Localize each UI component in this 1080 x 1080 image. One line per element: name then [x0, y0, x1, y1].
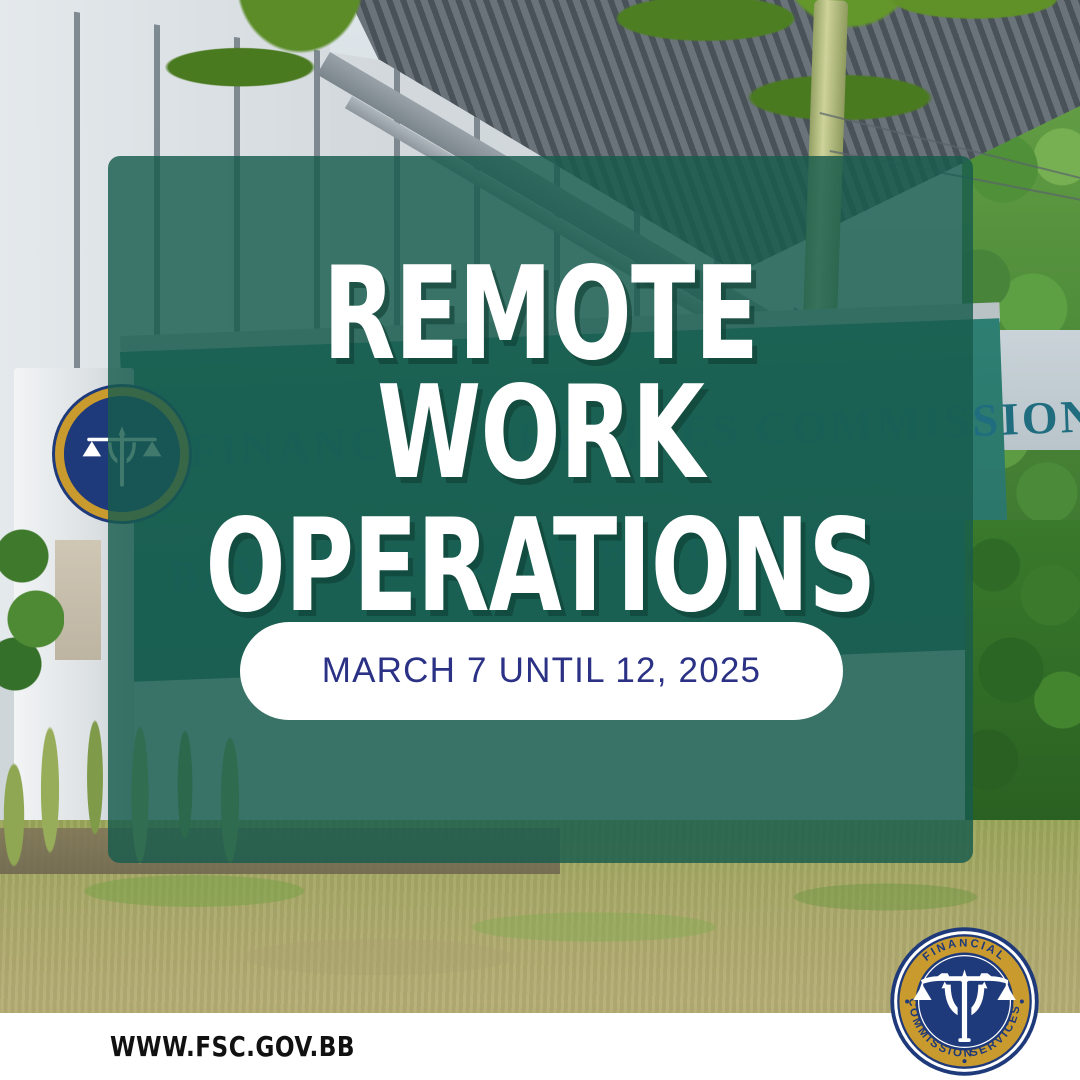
page-title-line-1: REMOTE WORK	[186, 255, 895, 493]
fsc-seal-logo: FINANCIAL COMMISSION SERVICES	[888, 925, 1041, 1078]
poster-canvas: FINANCIAL SERVICES COMMISSION BAY CORPOR…	[0, 0, 1080, 1080]
hedge-right	[965, 520, 1080, 820]
page-title: REMOTE WORK OPERATIONS	[108, 255, 973, 626]
date-range-label: MARCH 7 UNTIL 12, 2025	[322, 651, 761, 691]
palm-fronds-left	[150, 0, 450, 140]
page-title-line-2: OPERATIONS	[186, 507, 895, 626]
date-range-badge: MARCH 7 UNTIL 12, 2025	[240, 622, 843, 720]
website-url[interactable]: WWW.FSC.GOV.BB	[110, 1030, 355, 1063]
bush-left	[0, 520, 64, 700]
